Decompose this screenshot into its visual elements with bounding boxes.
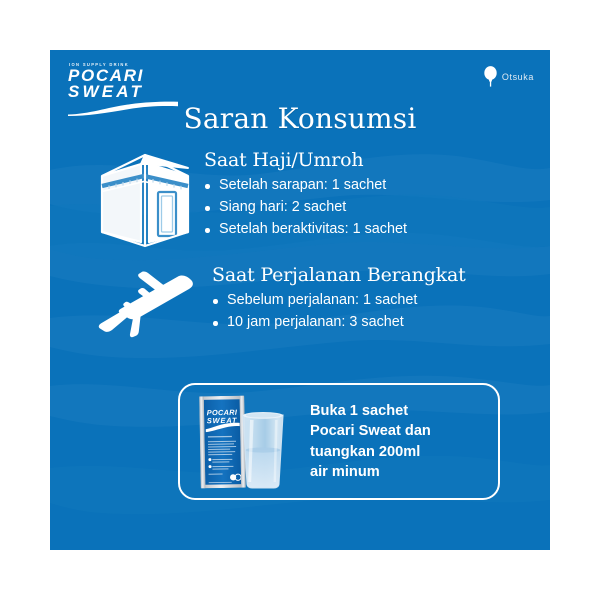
- poster-canvas: ION SUPPLY DRINK POCARI SWEAT Otsuka Sar…: [0, 0, 600, 600]
- logo-word-sweat: SWEAT: [68, 84, 192, 100]
- list-item: Setelah sarapan: 1 sachet: [204, 175, 407, 197]
- otsuka-wordmark: Otsuka: [502, 72, 534, 82]
- product-visual: POCARI SWEAT: [188, 390, 304, 494]
- section-haji-body: Saat Haji/Umroh Setelah sarapan: 1 sache…: [194, 150, 407, 241]
- kaaba-icon-wrapper: [96, 150, 194, 254]
- airplane-icon: [90, 265, 202, 343]
- section-perjalanan: Saat Perjalanan Berangkat Sebelum perjal…: [90, 265, 466, 343]
- instruction-line-1: Buka 1 sachet: [310, 401, 431, 421]
- kaaba-icon: [96, 150, 194, 254]
- section-perjalanan-heading: Saat Perjalanan Berangkat: [212, 265, 466, 286]
- blue-panel: ION SUPPLY DRINK POCARI SWEAT Otsuka Sar…: [50, 50, 550, 550]
- section-haji-list: Setelah sarapan: 1 sachet Siang hari: 2 …: [204, 175, 407, 241]
- otsuka-balloon-icon: [483, 66, 498, 87]
- airplane-icon-wrapper: [90, 265, 202, 343]
- list-item: Setelah beraktivitas: 1 sachet: [204, 219, 407, 241]
- instruction-line-3: tuangkan 200ml: [310, 442, 431, 462]
- instruction-box: POCARI SWEAT: [178, 383, 500, 500]
- list-item: 10 jam perjalanan: 3 sachet: [212, 312, 466, 334]
- instruction-text: Buka 1 sachet Pocari Sweat dan tuangkan …: [310, 401, 431, 482]
- section-haji-heading: Saat Haji/Umroh: [204, 150, 407, 171]
- logo-word-pocari: POCARI: [68, 68, 192, 84]
- section-perjalanan-list: Sebelum perjalanan: 1 sachet 10 jam perj…: [212, 290, 466, 334]
- list-item: Sebelum perjalanan: 1 sachet: [212, 290, 466, 312]
- section-haji-umroh: Saat Haji/Umroh Setelah sarapan: 1 sache…: [96, 150, 407, 254]
- instruction-line-2: Pocari Sweat dan: [310, 421, 431, 441]
- page-title: Saran Konsumsi: [50, 102, 550, 135]
- section-perjalanan-body: Saat Perjalanan Berangkat Sebelum perjal…: [202, 265, 466, 334]
- water-glass-image: [238, 410, 288, 490]
- list-item: Siang hari: 2 sachet: [204, 197, 407, 219]
- instruction-line-4: air minum: [310, 462, 431, 482]
- otsuka-logo: Otsuka: [483, 66, 534, 87]
